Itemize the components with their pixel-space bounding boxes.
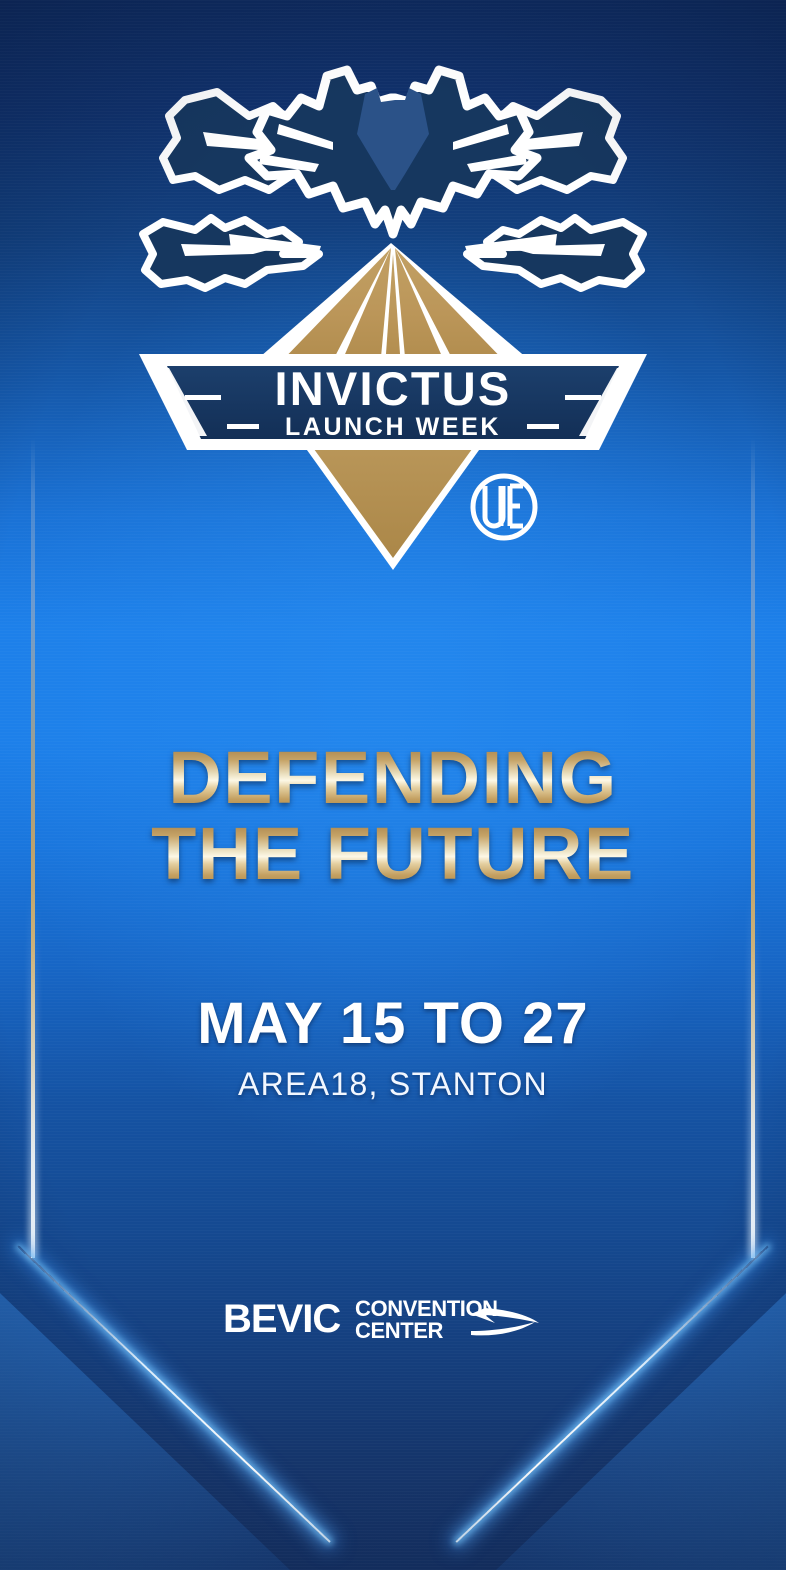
emblem-banner-subtitle: LAUNCH WEEK — [285, 413, 501, 441]
headline-block: DEFENDING THE FUTURE — [0, 737, 786, 895]
fighter-jet-left-outer-icon — [143, 218, 321, 288]
poster-canvas: INVICTUS LAUNCH WEEK DEFENDING THE FUTUR… — [0, 0, 786, 1570]
footer-brand: BEVIC — [223, 1297, 340, 1341]
event-location: AREA18, STANTON — [0, 1066, 786, 1102]
fighter-jet-center-icon — [249, 70, 537, 234]
headline-line-1: DEFENDING — [0, 737, 786, 819]
emblem-banner-title: INVICTUS — [275, 362, 512, 415]
right-light-wedge — [406, 1185, 786, 1570]
headline-line-2: THE FUTURE — [0, 813, 786, 895]
bottom-light-beams — [0, 1185, 786, 1570]
emblem-banner: INVICTUS LAUNCH WEEK — [139, 354, 647, 450]
bevic-convention-center-logo: BEVIC CONVENTION CENTER — [223, 1288, 563, 1350]
fighter-jet-right-outer-icon — [465, 218, 643, 288]
left-light-wedge — [0, 1185, 380, 1570]
invictus-launch-week-emblem: INVICTUS LAUNCH WEEK — [133, 58, 653, 578]
event-dates: MAY 15 TO 27 — [0, 993, 786, 1055]
uee-monogram-circle — [473, 476, 535, 538]
footer-sub-line-2: CENTER — [355, 1318, 444, 1343]
event-details-block: MAY 15 TO 27 AREA18, STANTON — [0, 993, 786, 1102]
swoosh-arc-icon — [471, 1308, 539, 1335]
